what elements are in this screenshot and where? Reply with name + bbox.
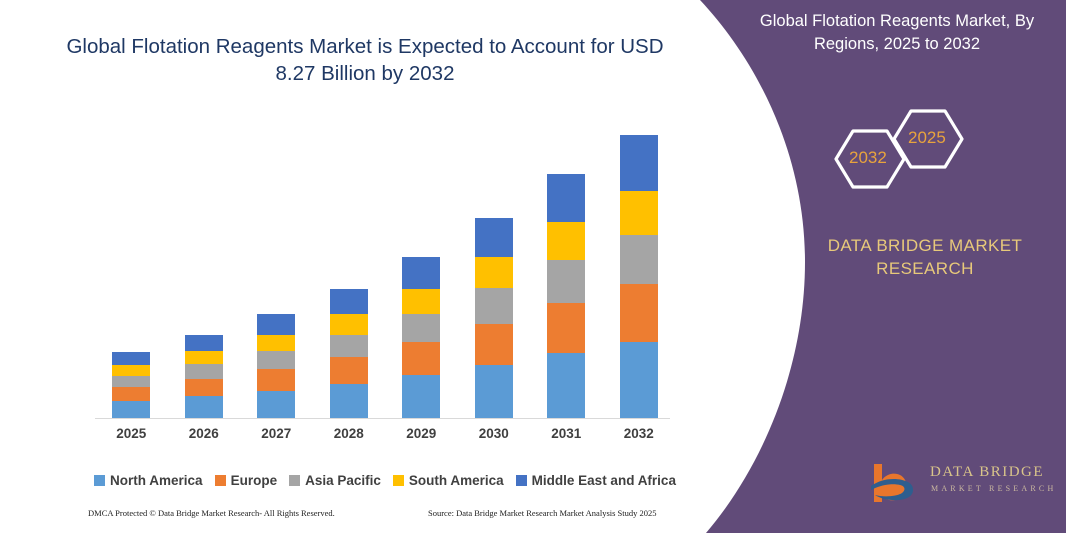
legend-label: Asia Pacific <box>305 473 381 488</box>
bar-segment <box>475 365 513 419</box>
bar-segment <box>475 324 513 365</box>
bar-segment <box>185 396 223 419</box>
panel-title: Global Flotation Reagents Market, By Reg… <box>742 10 1052 56</box>
x-axis-label: 2025 <box>101 426 161 441</box>
bar-segment <box>547 303 585 353</box>
bar-segment <box>547 353 585 419</box>
bar-segment <box>112 387 150 401</box>
bar-segment <box>185 379 223 396</box>
legend-item: Middle East and Africa <box>516 473 676 488</box>
bar-segment <box>330 289 368 315</box>
bar-segment <box>257 314 295 335</box>
hexagon-2025-label: 2025 <box>908 128 946 148</box>
bar-segment <box>475 257 513 288</box>
bar-group <box>620 120 658 419</box>
x-axis-label: 2032 <box>609 426 669 441</box>
bar-group <box>257 120 295 419</box>
infographic-root: Global Flotation Reagents Market is Expe… <box>0 0 1066 533</box>
legend-item: North America <box>94 473 203 488</box>
bar-segment <box>402 342 440 375</box>
logo-text-main: DATA BRIDGE <box>930 464 1044 481</box>
x-axis-label: 2028 <box>319 426 379 441</box>
legend-label: South America <box>409 473 504 488</box>
legend-swatch-icon <box>215 475 226 486</box>
bar-segment <box>620 284 658 342</box>
legend-label: Middle East and Africa <box>532 473 676 488</box>
bar-segment <box>330 357 368 384</box>
bar-segment <box>257 391 295 419</box>
x-axis-line <box>95 418 670 419</box>
chart-title: Global Flotation Reagents Market is Expe… <box>55 33 675 87</box>
hexagon-2032-label: 2032 <box>849 148 887 168</box>
bar-segment <box>620 342 658 419</box>
x-axis-label: 2030 <box>464 426 524 441</box>
bar-segment <box>620 191 658 235</box>
bar-segment <box>475 288 513 323</box>
legend-item: Asia Pacific <box>289 473 381 488</box>
bar-segment <box>330 314 368 334</box>
hexagon-pair: 2032 2025 <box>820 96 1010 206</box>
bar-segment <box>620 235 658 285</box>
legend-swatch-icon <box>94 475 105 486</box>
x-axis-label: 2029 <box>391 426 451 441</box>
brand-name: DATA BRIDGE MARKET RESEARCH <box>800 234 1050 280</box>
bar-segment <box>402 375 440 419</box>
bar-segment <box>185 335 223 352</box>
x-axis-labels: 20252026202720282029203020312032 <box>95 426 675 446</box>
bar-group <box>330 120 368 419</box>
bar-segment <box>475 218 513 257</box>
bar-segment <box>112 376 150 388</box>
bar-segment <box>547 222 585 260</box>
legend-item: South America <box>393 473 504 488</box>
x-axis-label: 2026 <box>174 426 234 441</box>
legend-label: Europe <box>231 473 278 488</box>
legend-swatch-icon <box>393 475 404 486</box>
logo-text-sub: MARKET RESEARCH <box>931 484 1056 493</box>
bar-segment <box>185 351 223 364</box>
bar-group <box>475 120 513 419</box>
bar-segment <box>330 384 368 419</box>
bar-segment <box>112 352 150 365</box>
bar-segment <box>402 257 440 289</box>
bar-segment <box>402 289 440 314</box>
bar-segment <box>257 335 295 351</box>
legend-swatch-icon <box>516 475 527 486</box>
bar-group <box>402 120 440 419</box>
bar-segment <box>547 260 585 303</box>
bar-segment <box>402 314 440 342</box>
bar-segment <box>112 365 150 375</box>
footer-source: Source: Data Bridge Market Research Mark… <box>428 508 657 518</box>
bar-group <box>185 120 223 419</box>
stacked-bar-chart <box>95 120 675 419</box>
legend-item: Europe <box>215 473 278 488</box>
bar-segment <box>257 351 295 369</box>
bar-segment <box>112 401 150 419</box>
x-axis-label: 2027 <box>246 426 306 441</box>
bar-segment <box>620 135 658 190</box>
legend-label: North America <box>110 473 203 488</box>
chart-legend: North AmericaEuropeAsia PacificSouth Ame… <box>95 470 675 490</box>
bar-group <box>112 120 150 419</box>
data-bridge-logo: DATA BRIDGE MARKET RESEARCH <box>868 460 1058 512</box>
bar-group <box>547 120 585 419</box>
legend-swatch-icon <box>289 475 300 486</box>
logo-mark-icon <box>868 460 928 510</box>
bar-segment <box>257 369 295 390</box>
x-axis-label: 2031 <box>536 426 596 441</box>
bar-segment <box>185 364 223 379</box>
bar-segment <box>330 335 368 358</box>
footer-copyright: DMCA Protected © Data Bridge Market Rese… <box>88 508 335 518</box>
bar-segment <box>547 174 585 222</box>
